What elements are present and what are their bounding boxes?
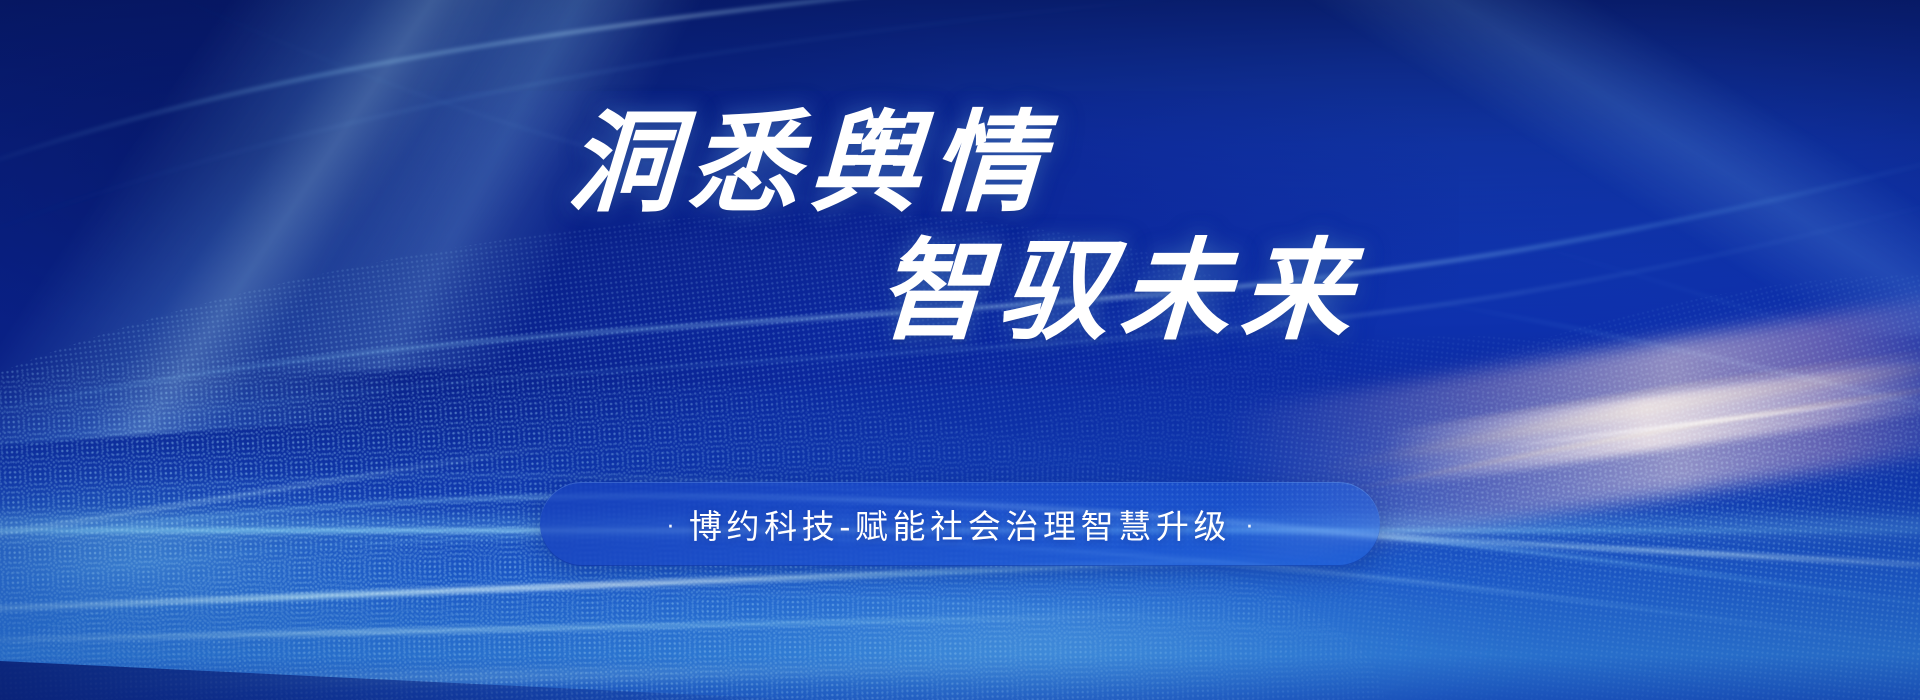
headline-block: 洞悉舆情 智驭未来 (0, 96, 1920, 361)
subtitle-pill-wrap: · 博约科技-赋能社会治理智慧升级 · (0, 482, 1920, 566)
subtitle-trailing-dot: · (1245, 511, 1254, 537)
subtitle-text: 博约科技-赋能社会治理智慧升级 (689, 500, 1231, 548)
banner-content: 洞悉舆情 智驭未来 · 博约科技-赋能社会治理智慧升级 · (0, 0, 1920, 700)
headline-line-1: 洞悉舆情 (0, 96, 1920, 232)
hero-banner: 洞悉舆情 智驭未来 · 博约科技-赋能社会治理智慧升级 · (0, 0, 1920, 700)
subtitle-leading-dot: · (666, 511, 675, 537)
headline-line-2: 智驭未来 (0, 224, 1920, 360)
subtitle-pill: · 博约科技-赋能社会治理智慧升级 · (540, 482, 1380, 566)
